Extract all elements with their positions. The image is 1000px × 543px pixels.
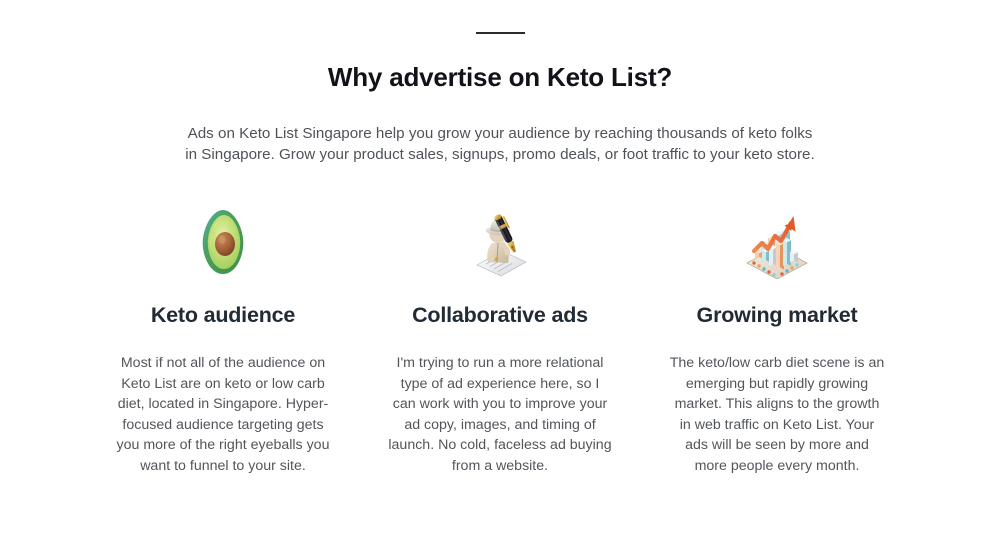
writing-hand-pen-icon bbox=[464, 207, 536, 279]
feature-columns: Keto audience Most if not all of the aud… bbox=[0, 165, 1000, 476]
avocado-icon bbox=[187, 207, 259, 279]
feature-body-collaborative-ads: I'm trying to run a more relational type… bbox=[388, 328, 613, 476]
feature-title-growing-market: Growing market bbox=[697, 279, 858, 328]
feature-title-collaborative-ads: Collaborative ads bbox=[412, 279, 588, 328]
intro-paragraph: Ads on Keto List Singapore help you grow… bbox=[180, 123, 820, 165]
advertise-section: Why advertise on Keto List? Ads on Keto … bbox=[0, 0, 1000, 543]
feature-title-keto-audience: Keto audience bbox=[151, 279, 295, 328]
feature-body-keto-audience: Most if not all of the audience on Keto … bbox=[114, 328, 332, 476]
feature-column-collaborative-ads: Collaborative ads I'm trying to run a mo… bbox=[362, 207, 639, 476]
page-title: Why advertise on Keto List? bbox=[0, 34, 1000, 93]
feature-body-growing-market: The keto/low carb diet scene is an emerg… bbox=[668, 328, 886, 476]
chart-increasing-icon bbox=[741, 207, 813, 279]
section-divider-rule bbox=[476, 32, 525, 34]
intro-container: Ads on Keto List Singapore help you grow… bbox=[0, 93, 1000, 165]
feature-column-growing-market: Growing market The keto/low carb diet sc… bbox=[639, 207, 916, 476]
feature-column-keto-audience: Keto audience Most if not all of the aud… bbox=[85, 207, 362, 476]
divider-container bbox=[0, 0, 1000, 34]
